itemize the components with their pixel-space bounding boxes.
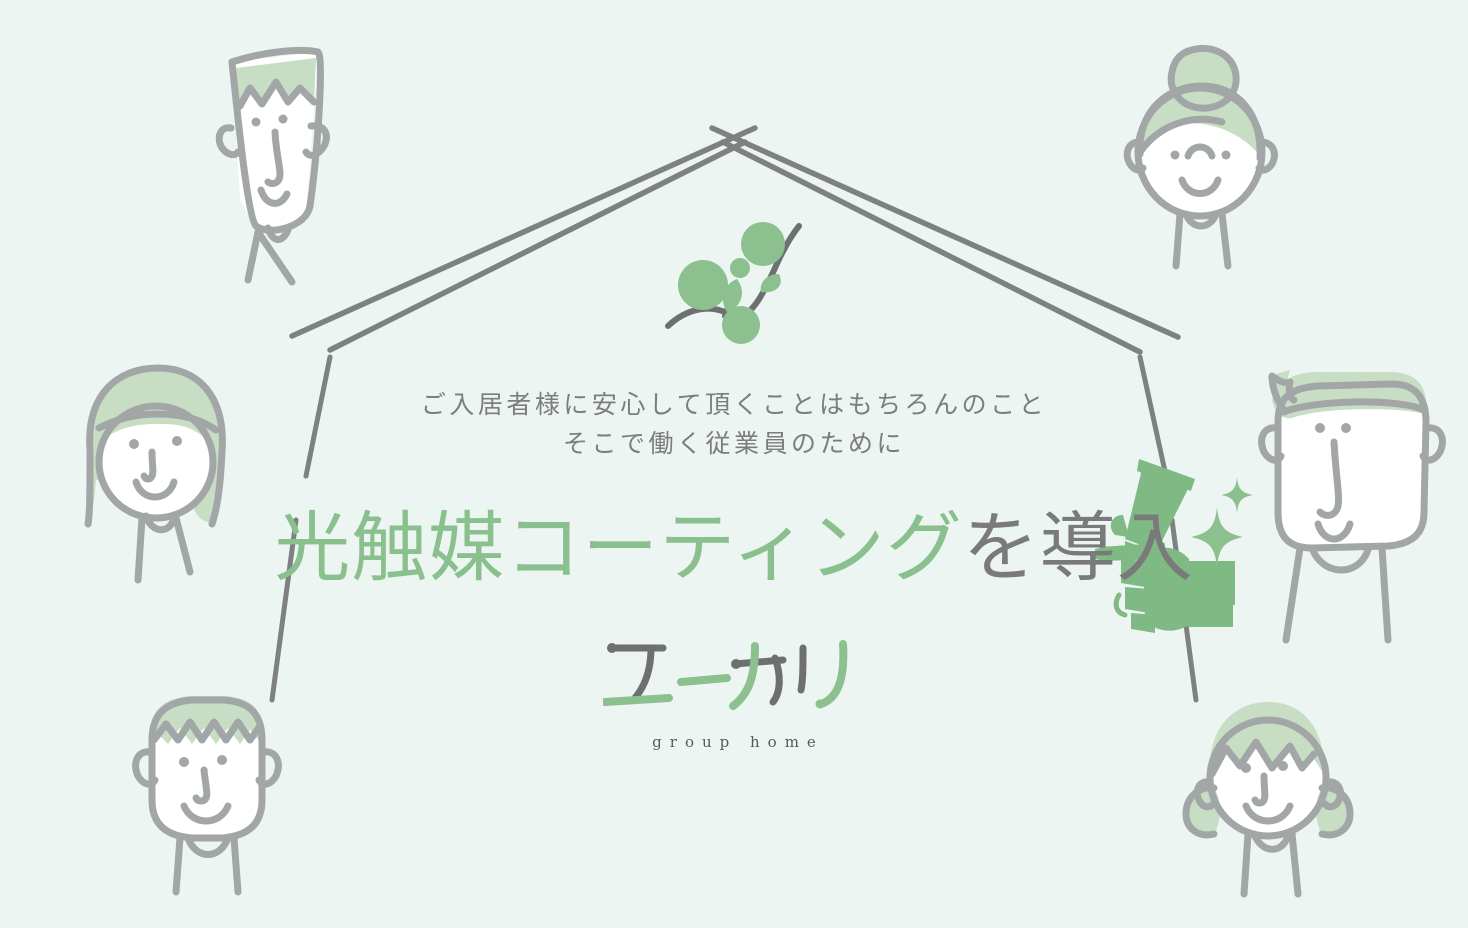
headline-gray-part: を導入 [963,506,1194,591]
logo-wordmark [603,636,865,722]
plant-sprig-icon [668,222,799,344]
subtitle-line-1: ご入居者様に安心して頂くことはもちろんのこと [0,386,1468,425]
logo-glyph-ri-left [801,648,803,690]
logo-glyph-ri-right [821,644,843,704]
headline-block: 光触媒コーティングを導入 [0,508,1468,590]
subtitle-block: ご入居者様に安心して頂くことはもちろんのこと そこで働く従業員のために [0,386,1468,464]
illustration-layer: .lw { fill:#ffffff; } .ls { fill:none; s… [0,0,1468,928]
character-elderly-woman [1127,48,1274,266]
house-roof-lines [292,128,1178,352]
logo-glyph-ka-dot [731,659,741,669]
character-tall-boy [219,50,326,282]
logo-glyph-ri-dot [816,700,825,709]
logo-tagline: group home [0,733,1468,751]
logo-glyph-yu-diagonal [635,648,651,698]
subtitle-line-2: そこで働く従業員のために [0,425,1468,464]
logo-glyph-yu-bottom [605,698,669,702]
logo-glyph-ka-left [733,646,755,706]
logo-yukari-glyphs [603,636,865,722]
page-title: 光触媒コーティングを導入 [274,508,1193,590]
logo-glyph-yu-dot [607,643,617,653]
logo-glyph-dash [681,678,727,682]
poster-canvas: .lw { fill:#ffffff; } .ls { fill:none; s… [0,0,1468,928]
logo-glyph-ka-right [773,658,779,702]
headline-green-part: 光触媒コーティング [274,506,962,591]
logo-block: group home [0,636,1468,751]
